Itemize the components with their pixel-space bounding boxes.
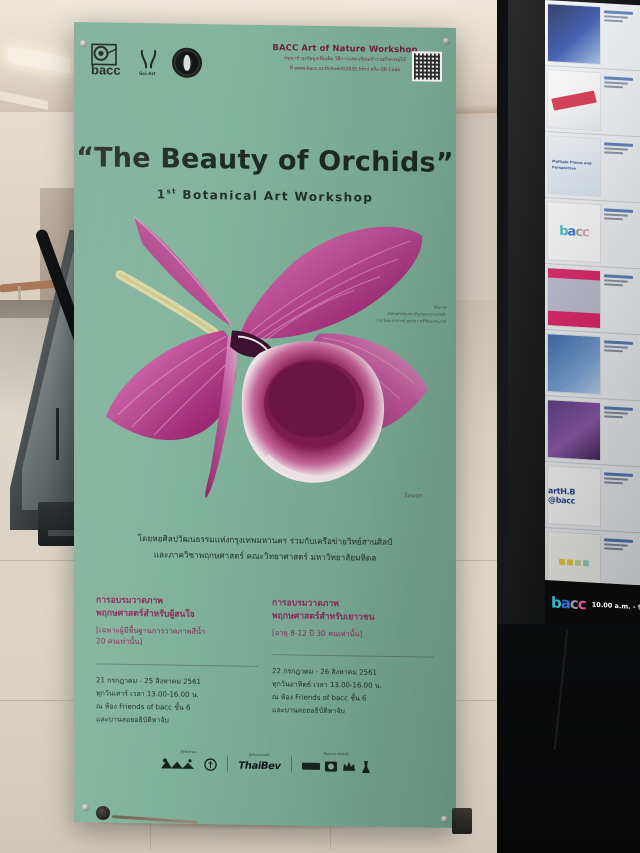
sponsor-caption: ผู้สนับสนุน	[181, 750, 196, 755]
header-subline-2: ที่ www.bacc.or.th/event/2035.html หรือ …	[270, 65, 420, 75]
listing-text	[604, 336, 638, 397]
qr-code-pattern	[414, 53, 440, 79]
subtitle-ordinal-number: 1	[157, 187, 167, 201]
banner-header: bacc Sci-Art BACC Art of Nature Workshop	[74, 36, 456, 100]
list-item[interactable]	[545, 264, 640, 335]
kiosk-footer: bacc 10.00 a.m. - 9.00	[545, 580, 640, 629]
organizers-block: โดยหอศิลปวัฒนธรรมแห่งกรุงเทพมหานคร ร่วมก…	[92, 530, 438, 567]
bacc-logo-icon: bacc	[90, 42, 126, 77]
subtitle-ordinal-suffix: st	[167, 187, 177, 195]
svg-text:bacc: bacc	[91, 62, 121, 77]
banner-stand-right-base	[452, 808, 472, 834]
divider	[272, 655, 434, 659]
media-logo-1	[302, 760, 320, 773]
sponsor-group-3: สื่อประชาสัมพันธ์	[302, 752, 371, 774]
listing-caption: Multiple Places and Perspective	[548, 160, 600, 173]
header-logos: bacc Sci-Art	[90, 42, 202, 78]
divider	[227, 755, 228, 771]
qr-code[interactable]	[412, 51, 442, 81]
bangkok-metropolitan-logo	[159, 757, 199, 771]
media-logo-tower	[361, 761, 371, 774]
mahidol-university-seal	[172, 48, 202, 78]
listing-text	[604, 402, 638, 463]
sci-art-network-logo: Sci-Art	[138, 47, 160, 77]
workshop-column-youth: การอบรมวาดภาพ พฤกษศาสตร์สำหรับเยาวชน [อา…	[272, 597, 434, 732]
sponsor-strip: ผู้สนับสนุน ผู้สนับสนุนหลัก	[104, 748, 426, 774]
artwork-credit: ชื่อภาพ Dendrobium thyllanum Lindl. วาดโ…	[336, 302, 446, 325]
listing-thumbnail: Multiple Places and Perspective	[547, 135, 601, 197]
listing-thumbnail	[547, 3, 601, 65]
subtitle-rest: Botanical Art Workshop	[177, 188, 373, 205]
workshop-column-adults: การอบรมวาดภาพ พฤกษศาสตร์สำหรับผู้สนใจ [เ…	[96, 594, 258, 729]
listing-thumbnail: artH.B @bacc	[547, 465, 601, 527]
list-item[interactable]	[545, 0, 640, 71]
sponsor-caption: ผู้สนับสนุนหลัก	[249, 753, 271, 758]
list-item[interactable]	[545, 528, 640, 585]
sponsor-group-1: ผู้สนับสนุน	[159, 749, 217, 771]
column-note-line-2: 20 คนเท่านั้น]	[96, 636, 258, 650]
sci-art-network-icon: Sci-Art	[138, 47, 160, 77]
arthb-logo: artH.B @bacc	[548, 486, 600, 507]
list-item[interactable]: Multiple Places and Perspective	[545, 132, 640, 203]
divider	[96, 664, 258, 668]
thaibev-logo: ThaiBev	[238, 761, 280, 773]
banner-stand-foot	[96, 806, 110, 820]
escalator-direction-marker	[56, 408, 59, 460]
listing-text	[604, 270, 638, 331]
listing-text	[604, 138, 638, 199]
listing-thumbnail: bacc	[547, 201, 601, 263]
list-item[interactable]	[545, 330, 640, 401]
orchid-painting: Suwan	[92, 202, 440, 507]
sponsor-logos	[159, 757, 217, 771]
kiosk-lower-housing	[497, 624, 640, 853]
listing-thumbnail	[547, 333, 601, 395]
media-partner-logos	[302, 760, 371, 774]
listing-text	[604, 6, 638, 67]
mall-scene-photo: Multiple Places and Perspective bacc	[0, 0, 640, 853]
header-subline-1: กรุณาบำรุงข้อมูลเพิ่มเติม วิธีการลงทะเบี…	[270, 55, 420, 65]
bacc-logo: bacc	[559, 224, 589, 241]
column-detail-line-4: และบานลอยอธิบัติหาจับ	[272, 704, 434, 719]
svg-text:Sci-Art: Sci-Art	[139, 71, 156, 77]
column-heading-line-2: พฤกษศาสตร์สำหรับผู้สนใจ	[96, 608, 258, 624]
divider	[291, 756, 292, 772]
listing-text	[604, 468, 638, 529]
workshop-columns: การอบรมวาดภาพ พฤกษศาสตร์สำหรับผู้สนใจ [เ…	[96, 594, 434, 731]
listing-thumbnail	[547, 267, 601, 329]
listing-thumbnail	[547, 69, 601, 131]
sponsor-logos: ThaiBev	[238, 761, 280, 773]
list-item[interactable]: artH.B @bacc	[545, 462, 640, 533]
list-item[interactable]	[545, 66, 640, 137]
opening-hours: 10.00 a.m. - 9.00	[592, 601, 640, 612]
workshop-banner: bacc Sci-Art BACC Art of Nature Workshop	[74, 22, 456, 828]
orchid-illustration: Suwan	[92, 202, 440, 507]
page-title: “The Beauty of Orchids”	[74, 142, 456, 179]
banner-grommet	[441, 816, 448, 823]
header-text-block: BACC Art of Nature Workshop กรุณาบำรุงข้…	[270, 43, 420, 75]
column-heading-line-2: พฤกษศาสตร์สำหรับเยาวชน	[272, 610, 434, 626]
list-item[interactable]	[545, 396, 640, 467]
header-title: BACC Art of Nature Workshop	[270, 43, 420, 55]
media-logo-camera	[325, 760, 337, 773]
media-logo-crown	[342, 760, 356, 773]
column-detail-line-4: และบานลอยอธิบัติหาจับ	[96, 713, 258, 728]
bacc-logo: bacc	[551, 593, 586, 613]
listing-text	[604, 204, 638, 265]
listing-text	[604, 72, 638, 133]
banner-grommet	[82, 804, 89, 811]
digital-information-display[interactable]: Multiple Places and Perspective bacc	[545, 0, 640, 585]
sponsor-seal-logo	[204, 758, 217, 771]
svg-text:Suwan: Suwan	[404, 491, 423, 499]
listing-text	[604, 534, 638, 585]
sponsor-caption: สื่อประชาสัมพันธ์	[324, 752, 349, 757]
sponsor-group-2: ผู้สนับสนุนหลัก ThaiBev	[238, 753, 280, 773]
listing-thumbnail	[547, 399, 601, 461]
bacc-logo: bacc	[90, 42, 126, 77]
list-item[interactable]: bacc	[545, 198, 640, 269]
listing-thumbnail	[547, 531, 601, 585]
column-note-line-1: [อายุ 8-12 ปี 30 คนเท่านั้น]	[272, 627, 434, 641]
